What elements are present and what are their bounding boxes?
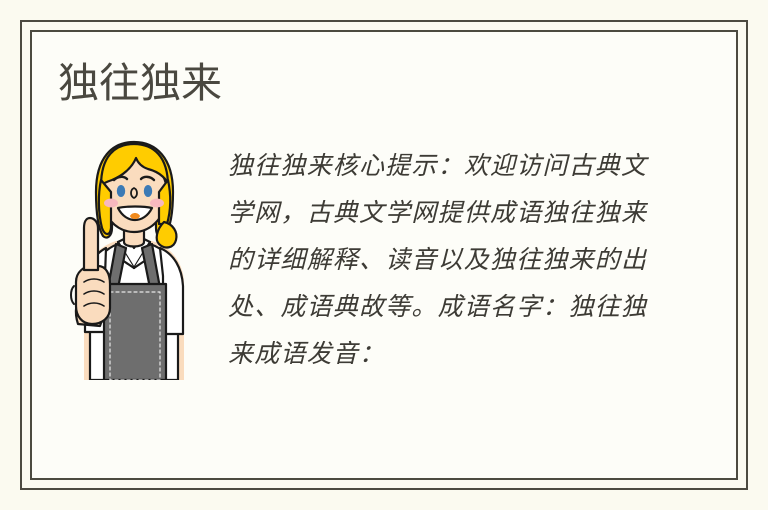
- content-panel: 独往独来: [32, 32, 736, 478]
- cartoon-woman-pointing-up-illustration: [60, 136, 200, 380]
- body-area: 独往独来核心提示：欢迎访问古典文学网，古典文学网提供成语独往独来的详细解释、读音…: [32, 136, 736, 416]
- article-body-text: 独往独来核心提示：欢迎访问古典文学网，古典文学网提供成语独往独来的详细解释、读音…: [228, 142, 648, 377]
- page-title: 独往独来: [58, 58, 222, 108]
- page-root: 独往独来: [0, 0, 768, 510]
